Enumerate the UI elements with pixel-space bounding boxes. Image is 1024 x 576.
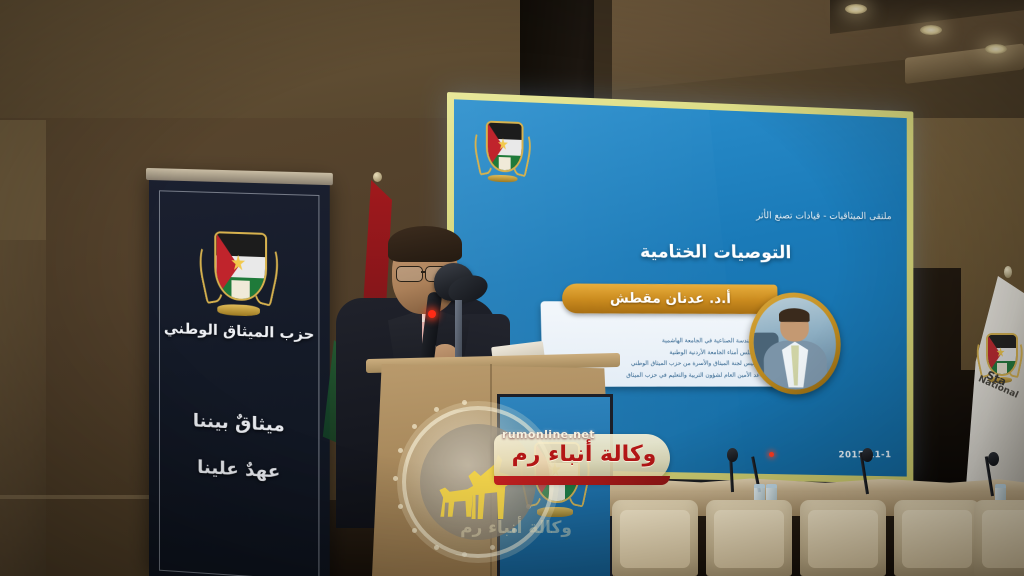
table-microphone-led — [769, 452, 774, 457]
ceiling-downlight — [985, 44, 1007, 54]
speaker-name: أ.د. عدنان مقطش — [562, 283, 778, 314]
slide-title: التوصيات الختامية — [560, 241, 869, 264]
table-microphone-head — [988, 452, 999, 466]
news-agency-watermark: rumonline.net وكالة أنباء رم وكالة أنباء… — [392, 398, 672, 574]
watermark-agency-name: وكالة أنباء رم — [496, 442, 672, 467]
dark-pillar-edge — [594, 0, 612, 110]
conference-hall-screenshot: ملتقى الميثاقيات - قيادات تصنع الأثر الت… — [0, 0, 1024, 576]
ceiling-downlight — [920, 25, 942, 35]
watermark-banner-underline — [494, 476, 670, 485]
microphone-led-indicator — [428, 310, 436, 318]
flag-finial — [373, 172, 382, 182]
watermark-ghost-text: وكالة أنباء رم — [416, 518, 616, 538]
speaker-bio-line: أستاذ الهندسة الصناعية في الجامعة الهاشم… — [547, 335, 769, 347]
rollup-banner: حزب الميثاق الوطني ميثاقٌ بيننا عهدٌ علي… — [149, 176, 330, 576]
panel-chair — [800, 500, 886, 576]
banner-emblem-icon — [201, 226, 276, 316]
slide-emblem-icon — [476, 116, 530, 182]
panel-chair — [894, 500, 980, 576]
table-microphone-head — [862, 448, 873, 462]
panel-chair — [974, 500, 1024, 576]
white-flag-finial — [1004, 266, 1012, 278]
wall-panel-left-highlight — [0, 120, 46, 240]
panel-chair — [706, 500, 792, 576]
table-microphone-head — [727, 448, 738, 462]
speaker-name-ribbon: أ.د. عدنان مقطش — [562, 283, 778, 314]
slide-header-text: ملتقى الميثاقيات - قيادات تصنع الأثر — [652, 210, 892, 222]
speaker-portrait — [748, 292, 842, 394]
ceiling-downlight — [845, 4, 867, 14]
watermark-url: rumonline.net — [502, 428, 595, 441]
